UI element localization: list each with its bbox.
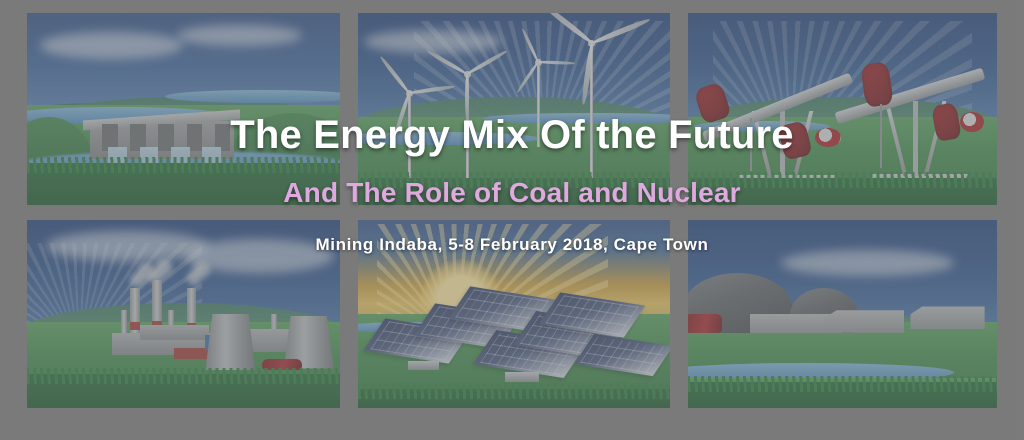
coal-power-plant-image: [27, 220, 340, 408]
oil-pumpjacks-image: [688, 13, 997, 205]
wind-turbines-image: [358, 13, 670, 205]
presentation-slide: The Energy Mix Of the Future And The Rol…: [0, 0, 1024, 440]
solar-panels-image: [358, 220, 670, 408]
nuclear-plant-image: [688, 220, 997, 408]
hydroelectric-dam-image: [27, 13, 340, 205]
energy-image-grid: [27, 13, 997, 408]
